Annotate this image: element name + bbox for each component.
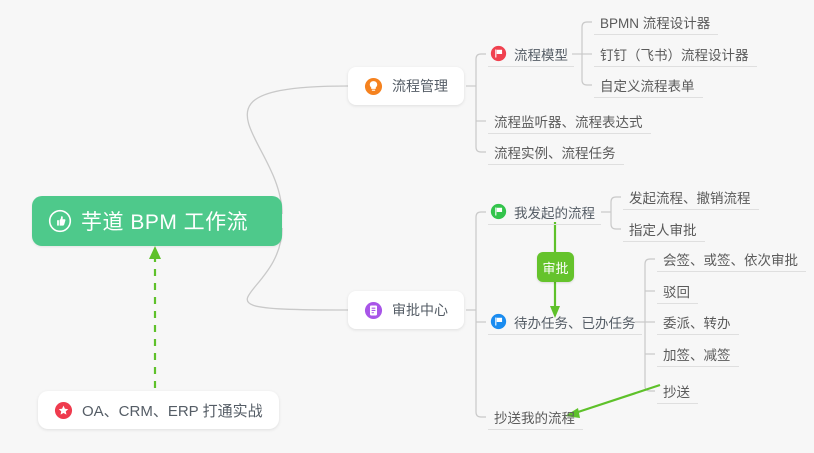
node-label: 指定人审批	[629, 219, 697, 239]
node-label: 发起流程、撤销流程	[629, 187, 751, 207]
branch-label: 流程管理	[392, 76, 448, 96]
node-label: BPMN 流程设计器	[600, 12, 710, 32]
node-cc[interactable]: 抄送	[657, 378, 698, 404]
node-label: 自定义流程表单	[600, 75, 695, 95]
node-todo-done-tasks[interactable]: 待办任务、已办任务	[488, 309, 642, 335]
star-circle-icon	[54, 401, 73, 420]
approval-tag[interactable]: 审批	[537, 252, 574, 282]
node-label: 钉钉（飞书）流程设计器	[600, 44, 749, 64]
tag-label: 审批	[542, 258, 568, 277]
node-custom-form[interactable]: 自定义流程表单	[594, 72, 703, 98]
node-label: 流程实例、流程任务	[494, 142, 616, 162]
lightbulb-circle-icon	[364, 77, 383, 96]
node-my-started-processes[interactable]: 我发起的流程	[488, 199, 601, 225]
thumbs-up-circle-icon	[48, 209, 72, 233]
integration-label: OA、CRM、ERP 打通实战	[82, 400, 263, 421]
node-countersign[interactable]: 会签、或签、依次审批	[657, 246, 806, 272]
node-add-remove-sign[interactable]: 加签、减签	[657, 341, 739, 367]
node-label: 待办任务、已办任务	[514, 312, 636, 332]
node-cc-to-me[interactable]: 抄送我的流程	[488, 404, 583, 430]
flag-circle-icon	[490, 313, 507, 330]
node-label: 流程监听器、流程表达式	[494, 111, 643, 131]
node-label: 驳回	[663, 281, 690, 301]
node-label: 抄送我的流程	[494, 407, 575, 427]
node-label: 会签、或签、依次审批	[663, 249, 798, 269]
node-start-cancel-process[interactable]: 发起流程、撤销流程	[623, 184, 759, 210]
root-node[interactable]: 芋道 BPM 工作流	[32, 196, 282, 246]
root-label: 芋道 BPM 工作流	[81, 206, 248, 236]
integration-card[interactable]: OA、CRM、ERP 打通实战	[38, 391, 279, 429]
mindmap-canvas[interactable]: 芋道 BPM 工作流 流程管理 审批中心	[0, 0, 814, 453]
branch-approval-center[interactable]: 审批中心	[348, 291, 464, 329]
node-label: 加签、减签	[663, 344, 731, 364]
integration-dashed-arrow	[149, 246, 161, 388]
node-label: 委派、转办	[663, 312, 731, 332]
flag-circle-icon	[490, 45, 507, 62]
node-label: 抄送	[663, 381, 690, 401]
node-label: 我发起的流程	[514, 202, 595, 222]
node-process-model[interactable]: 流程模型	[488, 41, 574, 67]
branch-label: 审批中心	[392, 300, 448, 320]
node-designated-approval[interactable]: 指定人审批	[623, 216, 705, 242]
node-delegate-transfer[interactable]: 委派、转办	[657, 309, 739, 335]
node-bpmn-designer[interactable]: BPMN 流程设计器	[594, 9, 718, 35]
document-circle-icon	[364, 301, 383, 320]
branch-process-management[interactable]: 流程管理	[348, 67, 464, 105]
node-dingtalk-designer[interactable]: 钉钉（飞书）流程设计器	[594, 41, 757, 67]
flag-circle-icon	[490, 203, 507, 220]
node-listener-expression[interactable]: 流程监听器、流程表达式	[488, 108, 651, 134]
node-label: 流程模型	[514, 44, 568, 64]
node-reject[interactable]: 驳回	[657, 278, 698, 304]
node-instance-task[interactable]: 流程实例、流程任务	[488, 139, 624, 165]
